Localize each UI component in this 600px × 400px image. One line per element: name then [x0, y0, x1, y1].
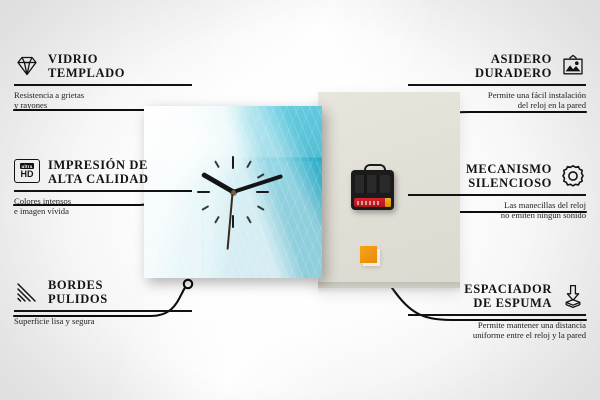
clock-mechanism	[351, 170, 394, 210]
feature-title: MECANISMO SILENCIOSO	[466, 162, 552, 190]
feature-rule	[408, 314, 586, 316]
feature-description: Superficie lisa y segura	[14, 316, 192, 326]
feature-description: Las manecillas del reloj no emiten ningú…	[408, 200, 586, 221]
clock-center-pivot	[231, 190, 236, 195]
feature-rule	[408, 84, 586, 86]
feature-title: VIDRIO TEMPLADO	[48, 52, 125, 80]
hanging-frame-icon	[560, 53, 586, 79]
feature-rule	[14, 84, 192, 86]
ultra-hd-icon: ultra HD	[14, 159, 40, 185]
feature-bordes-pulidos: BORDES PULIDOS Superficie lisa y segura	[14, 278, 192, 326]
feature-rule	[14, 310, 192, 312]
arrow-down-pad-icon	[560, 283, 586, 309]
feature-description: Permite mantener una distancia uniforme …	[408, 320, 586, 341]
feature-description: Permite una fácil instalación del reloj …	[408, 90, 586, 111]
diamond-icon	[14, 53, 40, 79]
feature-rule	[408, 194, 586, 196]
feature-title: BORDES PULIDOS	[48, 278, 108, 306]
mechanism-embossing	[355, 175, 390, 193]
feature-rule	[14, 190, 192, 192]
ultra-hd-icon-large-text: HD	[21, 170, 34, 179]
gear-icon	[560, 163, 586, 189]
feature-title: IMPRESIÓN DE ALTA CALIDAD	[48, 158, 149, 186]
foam-spacer-pad	[360, 246, 377, 263]
feature-description: Colores intensos e imagen vívida	[14, 196, 192, 217]
feature-title: ESPACIADOR DE ESPUMA	[464, 282, 552, 310]
feature-vidrio-templado: VIDRIO TEMPLADO Resistencia a grietas y …	[14, 52, 192, 110]
infographic-canvas: VIDRIO TEMPLADO Resistencia a grietas y …	[0, 0, 600, 400]
polished-edges-icon	[14, 279, 40, 305]
feature-espaciador-de-espuma: ESPACIADOR DE ESPUMA Permite mantener un…	[408, 282, 586, 340]
feature-impresion-alta-calidad: ultra HD IMPRESIÓN DE ALTA CALIDAD Color…	[14, 158, 192, 216]
feature-description: Resistencia a grietas y rayones	[14, 90, 192, 111]
feature-asidero-duradero: ASIDERO DURADERO Permite una fácil insta…	[408, 52, 586, 110]
battery-positive-terminal	[385, 198, 391, 207]
mechanism-hanger-hook	[364, 164, 386, 175]
feature-title: ASIDERO DURADERO	[475, 52, 552, 80]
feature-mecanismo-silencioso: MECANISMO SILENCIOSO Las manecillas del …	[408, 162, 586, 220]
battery-label-stripes	[357, 201, 379, 205]
